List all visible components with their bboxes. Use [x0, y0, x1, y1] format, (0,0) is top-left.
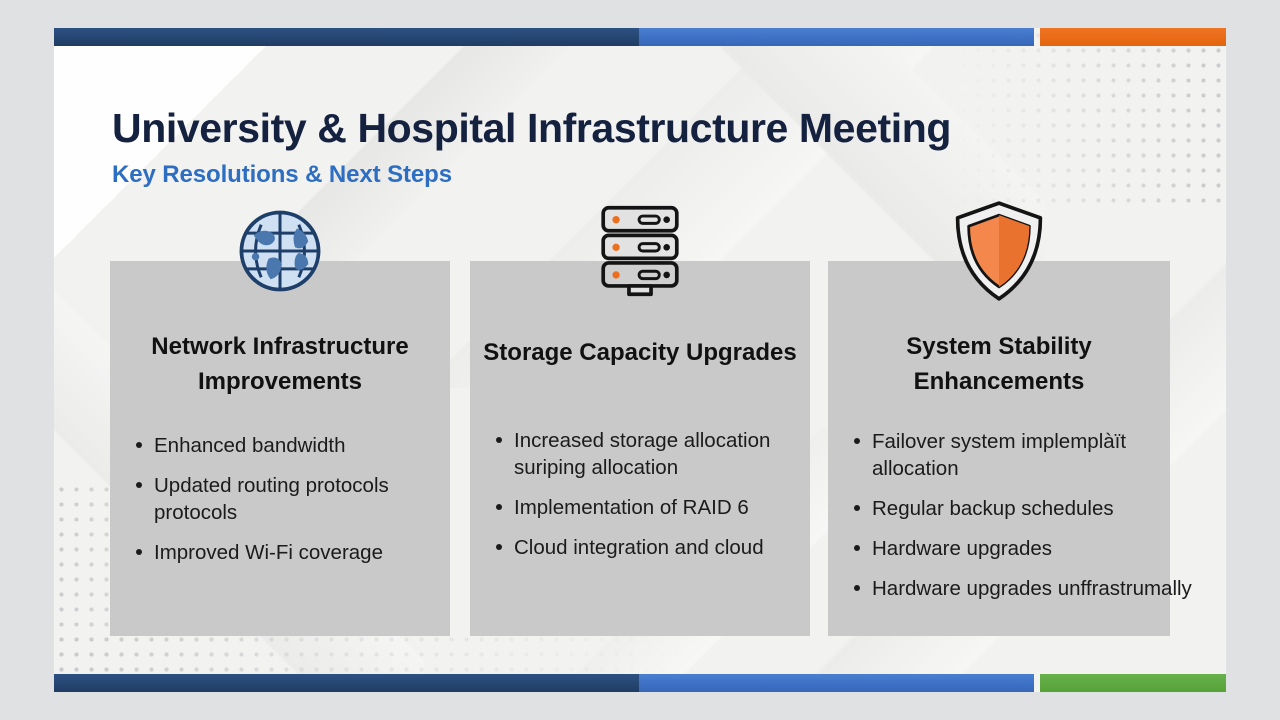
server-stack-icon — [470, 201, 810, 301]
card-heading: Storage Capacity Upgrades — [470, 335, 810, 370]
card-system-stability: System Stability Enhancements Failover s… — [828, 261, 1170, 636]
accent-segment-green — [1040, 674, 1226, 692]
list-item: Increased storage allocation suriping al… — [492, 427, 832, 481]
card-bullet-list: Enhanced bandwidth Updated routing proto… — [110, 432, 486, 579]
shield-icon — [828, 201, 1170, 301]
accent-segment-blue — [639, 28, 1034, 46]
top-accent-bar — [54, 28, 1226, 46]
list-item: Enhanced bandwidth — [132, 432, 472, 459]
list-item: Cloud integration and cloud — [492, 534, 832, 561]
globe-icon — [110, 201, 450, 301]
slide-canvas: University & Hospital Infrastructure Mee… — [54, 28, 1226, 692]
accent-segment-orange — [1040, 28, 1226, 46]
accent-segment-navy — [54, 28, 639, 46]
bottom-accent-bar — [54, 674, 1226, 692]
list-item: Improved Wi-Fi coverage — [132, 539, 472, 566]
card-bullet-list: Increased storage allocation suriping al… — [470, 427, 842, 574]
list-item: Updated routing protocols protocols — [132, 472, 472, 526]
accent-segment-blue — [639, 674, 1034, 692]
card-heading: System Stability Enhancements — [828, 329, 1170, 399]
card-bullet-list: Failover system implemplàït allocation R… — [828, 428, 1198, 615]
list-item: Hardware upgrades — [850, 535, 1192, 562]
accent-segment-navy — [54, 674, 639, 692]
card-network-infrastructure: Network Infrastructure Improvements Enha… — [110, 261, 450, 636]
halftone-dots-top-right — [926, 28, 1226, 203]
page-subtitle: Key Resolutions & Next Steps — [112, 161, 452, 189]
card-heading: Network Infrastructure Improvements — [110, 329, 450, 399]
card-storage-capacity: Storage Capacity Upgrades Increased stor… — [470, 261, 810, 636]
list-item: Failover system implemplàït allocation — [850, 428, 1192, 482]
list-item: Regular backup schedules — [850, 495, 1192, 522]
page-title: University & Hospital Infrastructure Mee… — [112, 105, 951, 152]
list-item: Implementation of RAID 6 — [492, 494, 832, 521]
list-item: Hardware upgrades unffrastrumally — [850, 575, 1192, 602]
